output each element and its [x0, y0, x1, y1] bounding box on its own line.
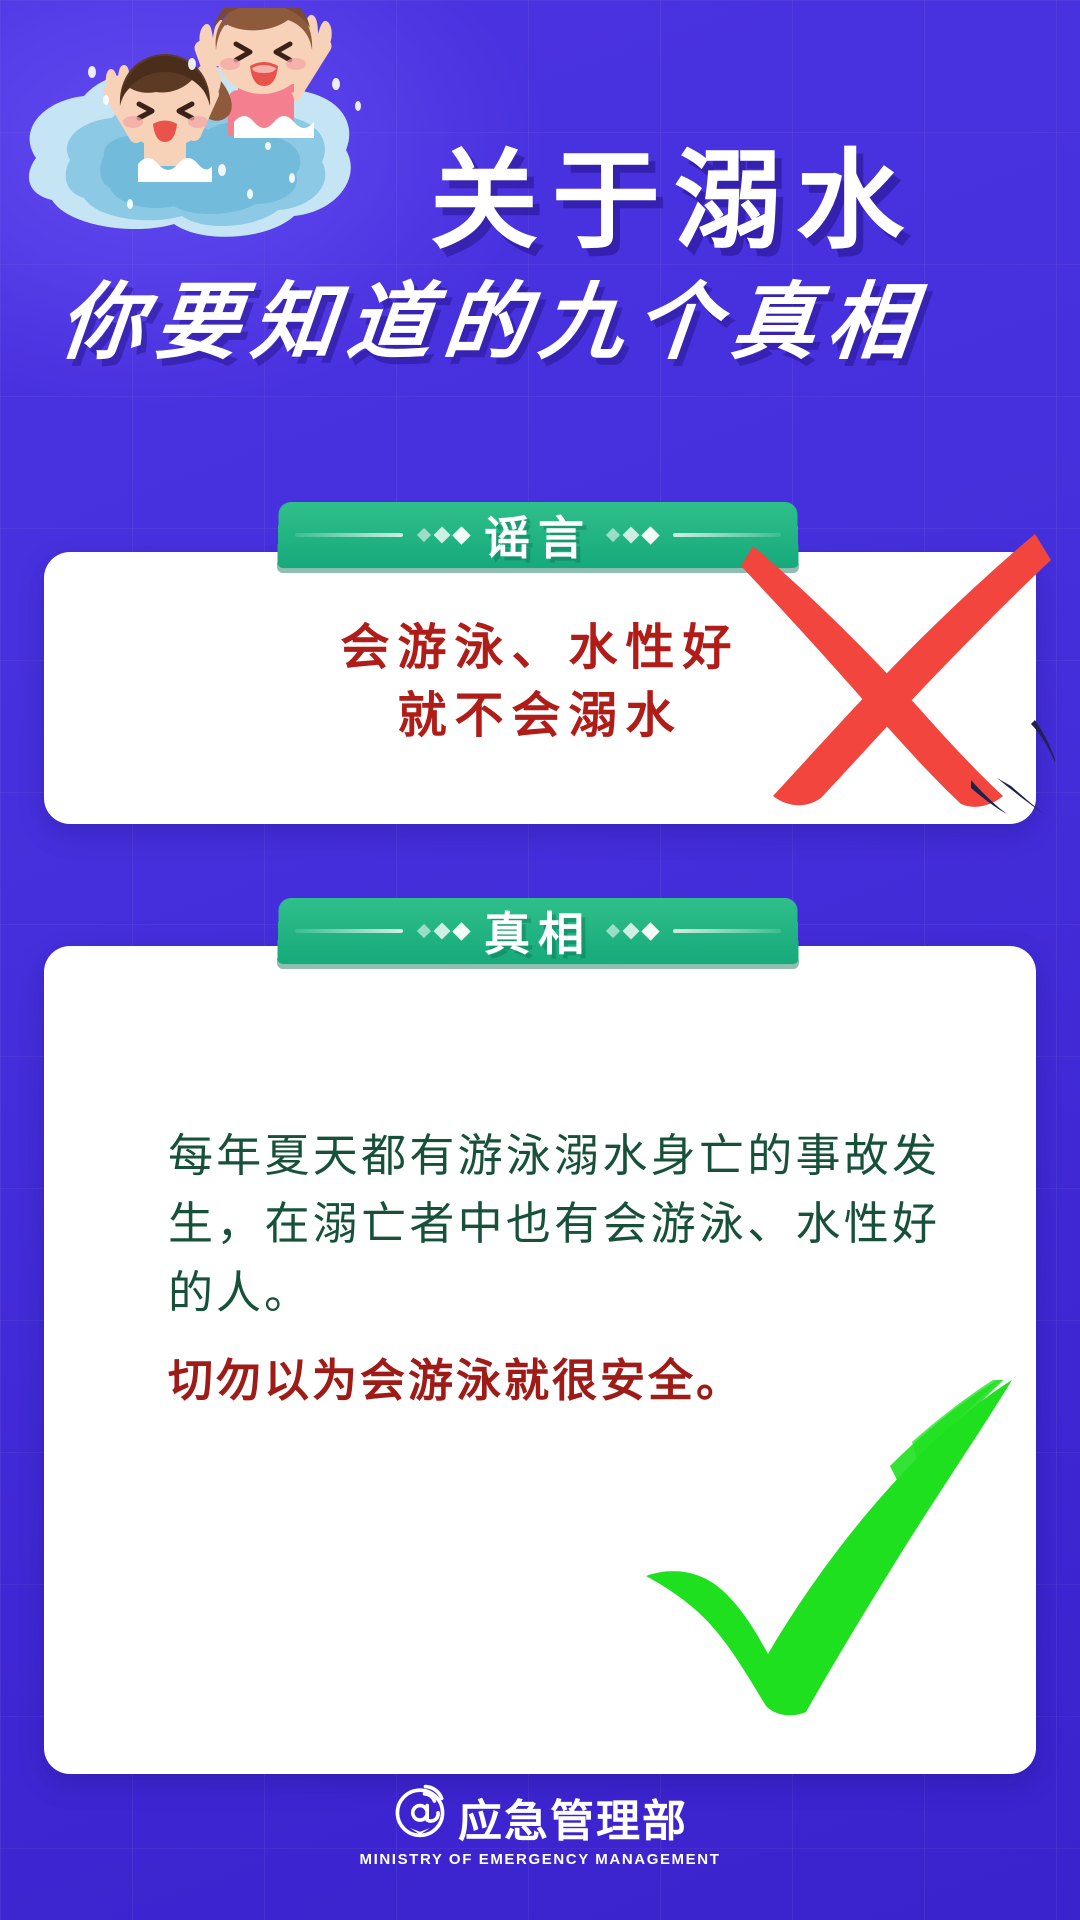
- poster-title-main: 关于溺水: [430, 148, 1050, 256]
- footer: 应急管理部 MINISTRY OF EMERGENCY MANAGEMENT: [0, 1783, 1080, 1868]
- rumor-card: 会游泳、水性好 就不会溺水: [44, 552, 1036, 824]
- banner-dash-left-2: [295, 929, 403, 933]
- banner-rumor-label: 谣言: [484, 502, 592, 568]
- truth-body-text: 每年夏天都有游泳溺水身亡的事故发生，在溺亡者中也有会游泳、水性好的人。: [168, 1122, 940, 1327]
- banner-truth: 真相: [277, 898, 799, 964]
- at-sign-wifi-logo-icon: [392, 1783, 448, 1844]
- banner-dash-left: [295, 533, 403, 537]
- banner-diamonds-right-2: [608, 925, 657, 938]
- banner-diamonds-right: [608, 529, 657, 542]
- poster-root: 关于溺水 你要知道的九个真相 会游泳、水性好 就不会溺水 谣言 每年夏天都有游泳…: [0, 0, 1080, 1920]
- drowning-children-illustration: [6, 8, 426, 298]
- truth-emphasis-text: 切勿以为会游泳就很安全。: [168, 1348, 940, 1413]
- banner-diamonds-left: [419, 529, 468, 542]
- rumor-text-line-1: 会游泳、水性好: [44, 614, 1036, 682]
- poster-title-sub: 你要知道的九个真相: [56, 280, 1045, 364]
- banner-dash-right-2: [673, 929, 781, 933]
- banner-truth-label: 真相: [484, 898, 592, 964]
- footer-org-name-en: MINISTRY OF EMERGENCY MANAGEMENT: [360, 1851, 721, 1868]
- banner-rumor: 谣言: [277, 502, 799, 568]
- rumor-text: 会游泳、水性好 就不会溺水: [44, 614, 1036, 749]
- banner-diamonds-left-2: [419, 925, 468, 938]
- footer-org-name-cn: 应急管理部: [458, 1800, 688, 1844]
- truth-card: 每年夏天都有游泳溺水身亡的事故发生，在溺亡者中也有会游泳、水性好的人。 切勿以为…: [44, 946, 1036, 1774]
- rumor-text-line-2: 就不会溺水: [44, 682, 1036, 750]
- footer-logo-row: 应急管理部: [392, 1783, 688, 1844]
- banner-dash-right: [673, 533, 781, 537]
